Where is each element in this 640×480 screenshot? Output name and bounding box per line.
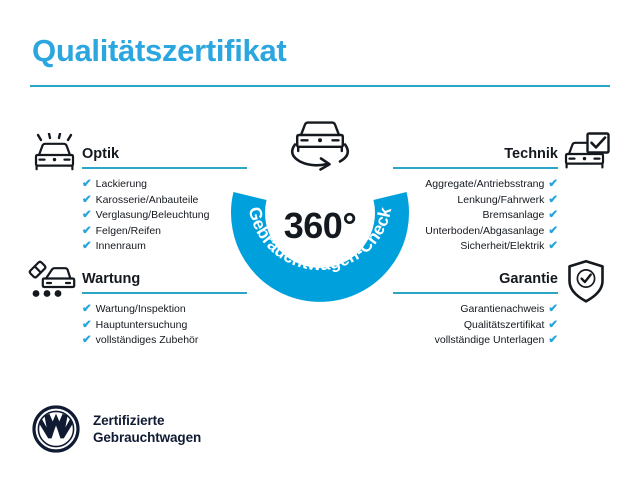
check-icon: ✔ [548,195,558,207]
section-wartung-divider [82,292,247,294]
section-technik-title: Technik [393,144,558,164]
list-item-label: Felgen/Reifen [96,224,161,240]
page-title: Qualitätszertifikat [32,34,286,68]
section-wartung-list: ✔ Wartung/Inspektion ✔ Hauptuntersuchung… [82,302,247,349]
list-item: Sicherheit/Elektrik ✔ [393,239,558,255]
section-garantie-title: Garantie [393,269,558,289]
list-item: Unterboden/Abgasanlage ✔ [393,224,558,240]
list-item: vollständige Unterlagen ✔ [393,333,558,349]
check-icon: ✔ [82,226,92,238]
list-item-label: Unterboden/Abgasanlage [425,224,544,240]
list-item: ✔ Hauptuntersuchung [82,318,247,334]
list-item-label: Qualitätszertifikat [464,318,545,334]
brand-text: Zertifizierte Gebrauchtwagen [93,412,201,446]
car-with-checkbox-icon [560,131,612,173]
section-optik: Optik ✔ Lackierung ✔ Karosserie/Anbautei… [82,144,247,255]
list-item: ✔ Felgen/Reifen [82,224,247,240]
volkswagen-logo [32,405,80,453]
list-item-label: Aggregate/Antriebsstrang [425,177,544,193]
section-technik-header: Technik [393,144,558,170]
list-item: Aggregate/Antriebsstrang ✔ [393,177,558,193]
list-item: ✔ Verglasung/Beleuchtung [82,208,247,224]
list-item-label: Verglasung/Beleuchtung [96,208,210,224]
list-item-label: vollständige Unterlagen [435,333,545,349]
check-icon: ✔ [82,335,92,347]
section-garantie-header: Garantie [393,269,558,295]
list-item-label: Garantienachweis [460,302,544,318]
list-item-label: Lenkung/Fahrwerk [457,193,544,209]
section-optik-list: ✔ Lackierung ✔ Karosserie/Anbauteile ✔ V… [82,177,247,255]
check-icon: ✔ [548,179,558,191]
list-item-label: Hauptuntersuchung [96,318,188,334]
check-icon: ✔ [82,195,92,207]
section-wartung: Wartung ✔ Wartung/Inspektion ✔ Hauptunte… [82,269,247,349]
section-garantie-divider [393,292,558,294]
list-item: Bremsanlage ✔ [393,208,558,224]
title-divider [30,85,610,87]
badge-number: 360° [228,208,412,244]
list-item-label: vollständiges Zubehör [96,333,199,349]
section-garantie-list: Garantienachweis ✔ Qualitätszertifikat ✔… [393,302,558,349]
check-icon: ✔ [548,241,558,253]
check-icon: ✔ [82,210,92,222]
quality-certificate-page: Qualitätszertifikat Optik [0,0,640,480]
list-item-label: Wartung/Inspektion [96,302,186,318]
car-360-rotation-icon [272,116,368,176]
check-icon: ✔ [82,241,92,253]
check-icon: ✔ [548,304,558,316]
brand-text-line2: Gebrauchtwagen [93,429,201,446]
gebrauchtwagen-check-badge: Gebrauchtwagen-Check [228,152,412,324]
check-icon: ✔ [82,304,92,316]
shield-check-icon [566,259,606,304]
section-wartung-title: Wartung [82,269,247,289]
list-item-label: Lackierung [96,177,147,193]
list-item: ✔ vollständiges Zubehör [82,333,247,349]
section-wartung-header: Wartung [82,269,247,295]
section-optik-divider [82,167,247,169]
wrench-car-service-icon [26,259,80,299]
brand-text-line1: Zertifizierte [93,412,201,429]
section-garantie: Garantie Garantienachweis ✔ Qualitätszer… [393,269,558,349]
check-icon: ✔ [548,335,558,347]
list-item-label: Innenraum [96,239,146,255]
check-icon: ✔ [548,210,558,222]
section-technik-divider [393,167,558,169]
list-item: ✔ Wartung/Inspektion [82,302,247,318]
list-item-label: Sicherheit/Elektrik [460,239,544,255]
check-icon: ✔ [548,320,558,332]
section-technik-list: Aggregate/Antriebsstrang ✔ Lenkung/Fahrw… [393,177,558,255]
check-icon: ✔ [82,320,92,332]
list-item: ✔ Lackierung [82,177,247,193]
check-icon: ✔ [548,226,558,238]
list-item: Lenkung/Fahrwerk ✔ [393,193,558,209]
list-item-label: Karosserie/Anbauteile [96,193,199,209]
list-item: Qualitätszertifikat ✔ [393,318,558,334]
list-item: Garantienachweis ✔ [393,302,558,318]
volkswagen-brand-block: Zertifizierte Gebrauchtwagen [32,405,201,453]
section-optik-title: Optik [82,144,247,164]
section-optik-header: Optik [82,144,247,170]
list-item-label: Bremsanlage [482,208,544,224]
car-front-with-light-rays-icon [28,133,80,173]
list-item: ✔ Innenraum [82,239,247,255]
section-technik: Technik Aggregate/Antriebsstrang ✔ Lenku… [393,144,558,255]
list-item: ✔ Karosserie/Anbauteile [82,193,247,209]
check-icon: ✔ [82,179,92,191]
